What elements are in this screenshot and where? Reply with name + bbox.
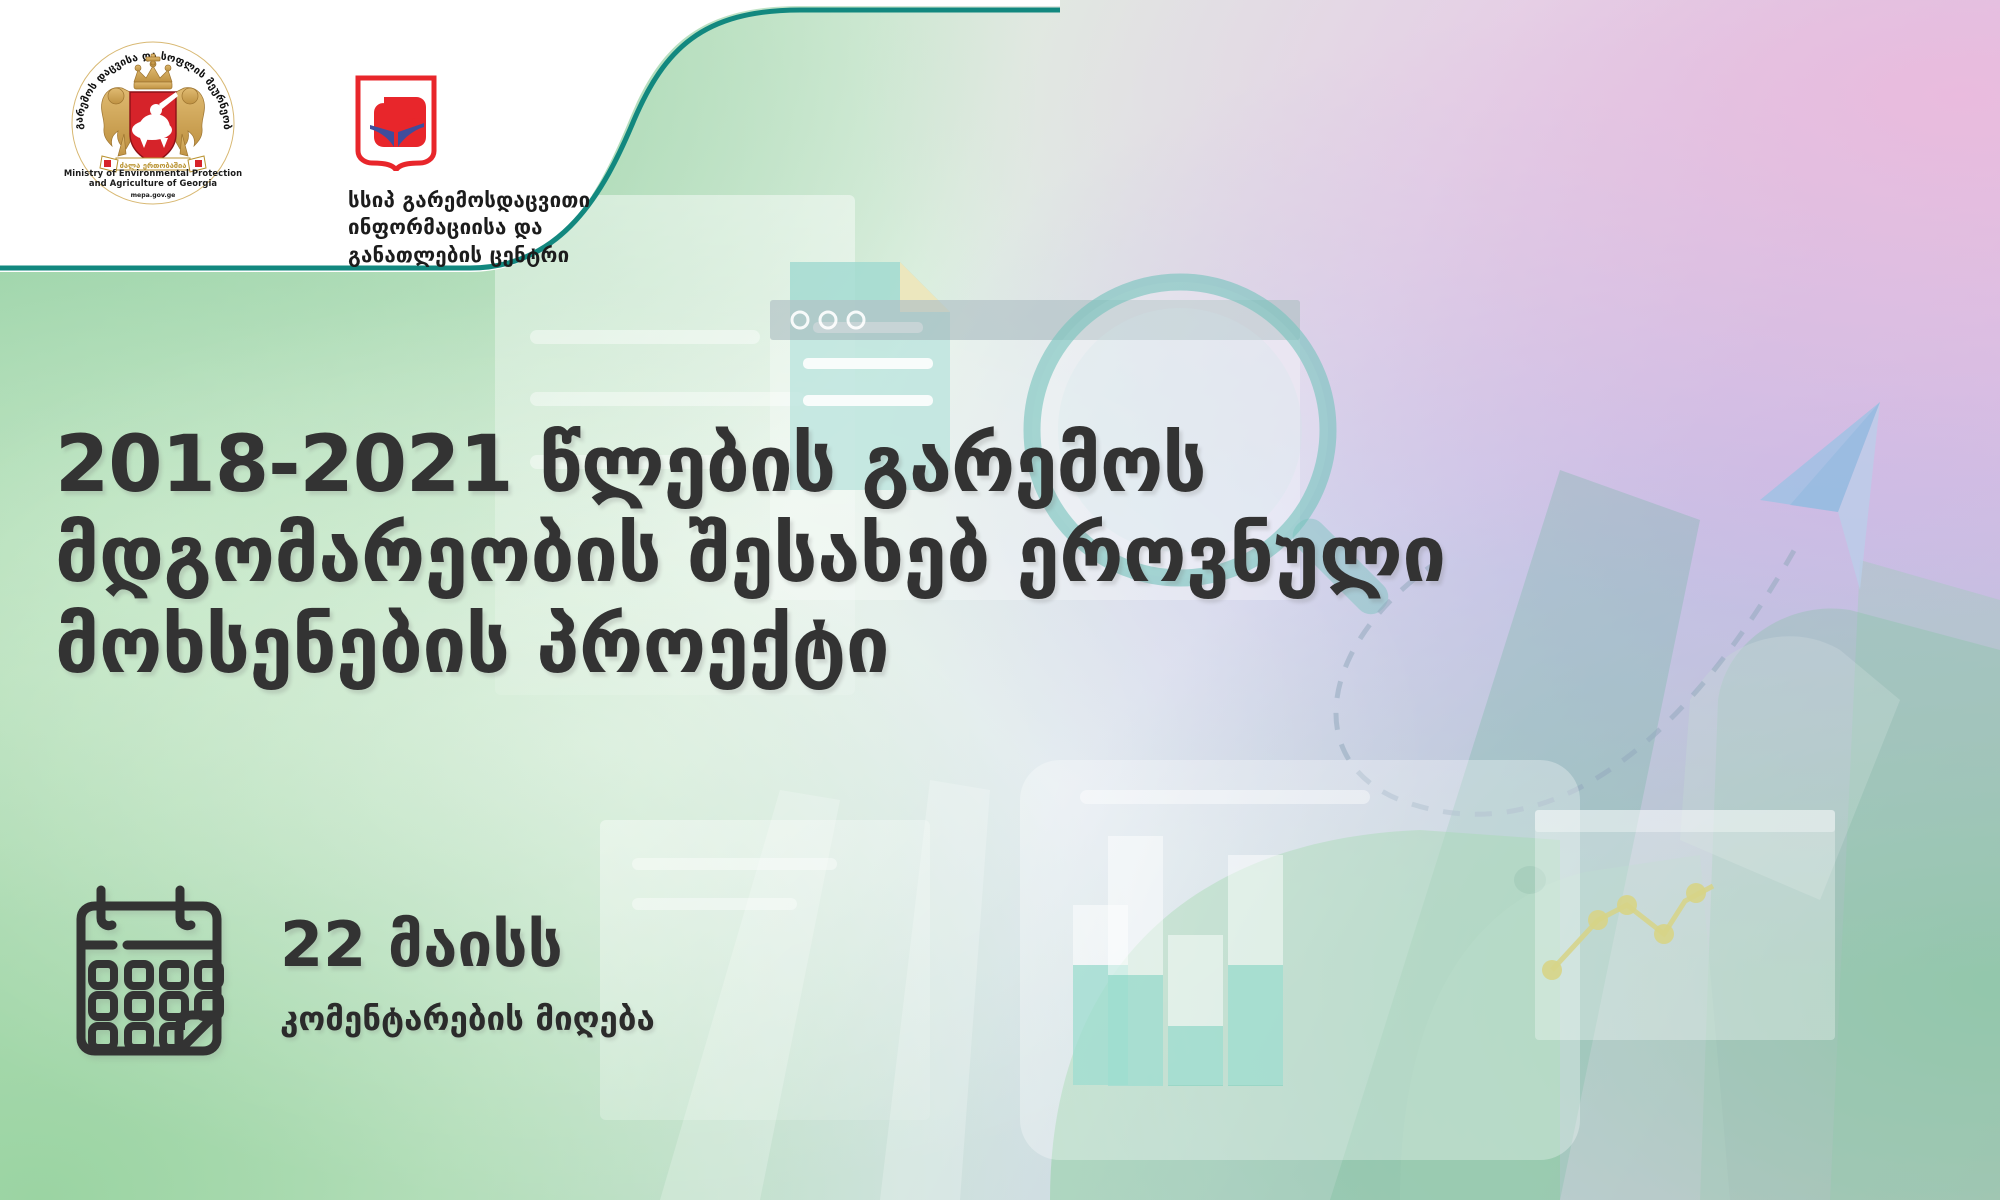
emblem-url: mepa.gov.ge	[60, 192, 246, 199]
center-logo: სსიპ გარემოსდაცვითი ინფორმაციისა და განა…	[348, 75, 598, 269]
center-logo-line-1: სსიპ გარემოსდაცვითი	[348, 187, 598, 214]
logo-row: საქართველოს გარემოს დაცვისა და სოფლის მე…	[60, 30, 246, 216]
title-line-1: 2018-2021 წლების გარემოს	[55, 420, 1615, 510]
center-logo-text: სსიპ გარემოსდაცვითი ინფორმაციისა და განა…	[348, 187, 598, 269]
date-text: 22 მაისს კომენტარების მიღება	[280, 880, 655, 1035]
bar-chart-icon	[1020, 760, 1580, 1160]
line-chart-icon	[1535, 810, 1835, 1040]
georgia-coat-of-arms-icon: საქართველოს გარემოს დაცვისა და სოფლის მე…	[60, 30, 246, 216]
date-value: 22 მაისს	[280, 914, 655, 976]
title-line-3: მოხსენების პროექტი	[55, 601, 1615, 691]
book-shield-logo-icon	[354, 75, 438, 171]
date-block: 22 მაისს კომენტარების მიღება	[55, 880, 655, 1065]
center-logo-line-2: ინფორმაციისა და	[348, 214, 598, 241]
center-logo-line-3: განათლების ცენტრი	[348, 242, 598, 269]
calendar-icon	[55, 880, 240, 1065]
ministry-emblem: საქართველოს გარემოს დაცვისა და სოფლის მე…	[60, 30, 246, 216]
banner-canvas: საქართველოს გარემოს დაცვისა და სოფლის მე…	[0, 0, 2000, 1200]
title-line-2: მდგომარეობის შესახებ ეროვნული	[55, 510, 1615, 600]
emblem-name-en: Ministry of Environmental Protection and…	[60, 168, 246, 189]
date-caption: კომენტარების მიღება	[280, 1002, 655, 1035]
page-title: 2018-2021 წლების გარემოს მდგომარეობის შე…	[55, 420, 1615, 691]
